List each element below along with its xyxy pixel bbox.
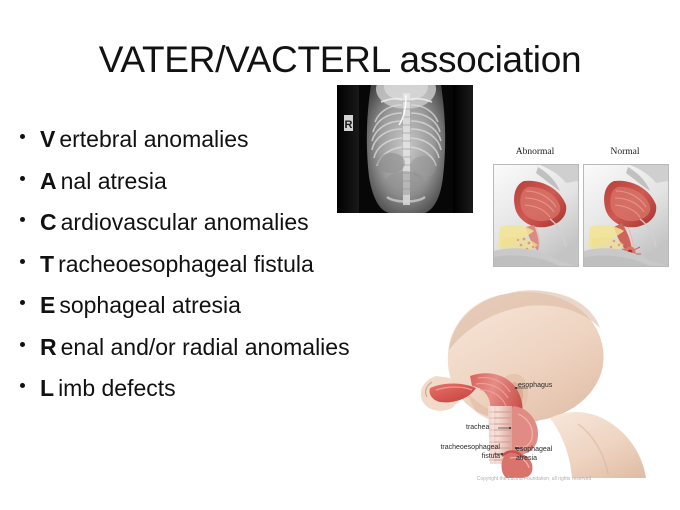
bullet-letter: C xyxy=(40,209,57,235)
bullet-text: enal and/or radial anomalies xyxy=(61,334,350,360)
bullet-dot-icon xyxy=(20,342,25,347)
illustration-copyright: Copyright the Lucina Foundation, all rig… xyxy=(434,476,634,482)
bullet-dot-icon xyxy=(20,176,25,181)
label-trachea: trachea xyxy=(466,424,489,433)
slide-canvas: VATER/VACTERL association Vertebral anom… xyxy=(0,0,680,510)
list-item: Esophageal atresia xyxy=(14,289,434,331)
label-esophagus: esophagus xyxy=(518,382,552,391)
tracheoesophageal-fistula-illustration: esophagus trachea tracheoesophageal fist… xyxy=(410,278,678,506)
bullet-text: racheoesophageal fistula xyxy=(58,251,314,277)
bullet-text: sophageal atresia xyxy=(59,292,241,318)
anorectal-comparison-figure: Abnormal Normal xyxy=(491,143,671,267)
xray-side-marker: R xyxy=(344,115,353,131)
anorectal-caption-abnormal: Abnormal xyxy=(492,147,578,157)
list-item: Tracheoesophageal fistula xyxy=(14,248,434,290)
bullet-letter: A xyxy=(40,168,57,194)
bullet-dot-icon xyxy=(20,134,25,139)
bullet-letter: V xyxy=(40,126,55,152)
page-title: VATER/VACTERL association xyxy=(0,38,680,82)
bullet-dot-icon xyxy=(20,300,25,305)
bullet-text: imb defects xyxy=(58,375,176,401)
bullet-dot-icon xyxy=(20,259,25,264)
bullet-letter: E xyxy=(40,292,55,318)
anorectal-caption-normal: Normal xyxy=(582,147,668,157)
bullet-dot-icon xyxy=(20,383,25,388)
list-item: Limb defects xyxy=(14,372,434,414)
label-tracheoesophageal-fistula: tracheoesophageal fistula xyxy=(422,444,500,461)
svg-text:R: R xyxy=(345,119,353,131)
infant-radiograph-image: R xyxy=(337,85,473,213)
list-item: Renal and/or radial anomalies xyxy=(14,331,434,373)
bullet-text: ardiovascular anomalies xyxy=(61,209,309,235)
bullet-letter: L xyxy=(40,375,54,401)
anorectal-panel-normal xyxy=(583,164,669,267)
bullet-text: nal atresia xyxy=(61,168,167,194)
bullet-text: ertebral anomalies xyxy=(59,126,248,152)
bullet-dot-icon xyxy=(20,217,25,222)
label-esophageal-atresia: esophageal atresia xyxy=(516,446,572,463)
bullet-letter: T xyxy=(40,251,54,277)
bullet-letter: R xyxy=(40,334,57,360)
anorectal-panel-abnormal xyxy=(493,164,579,267)
